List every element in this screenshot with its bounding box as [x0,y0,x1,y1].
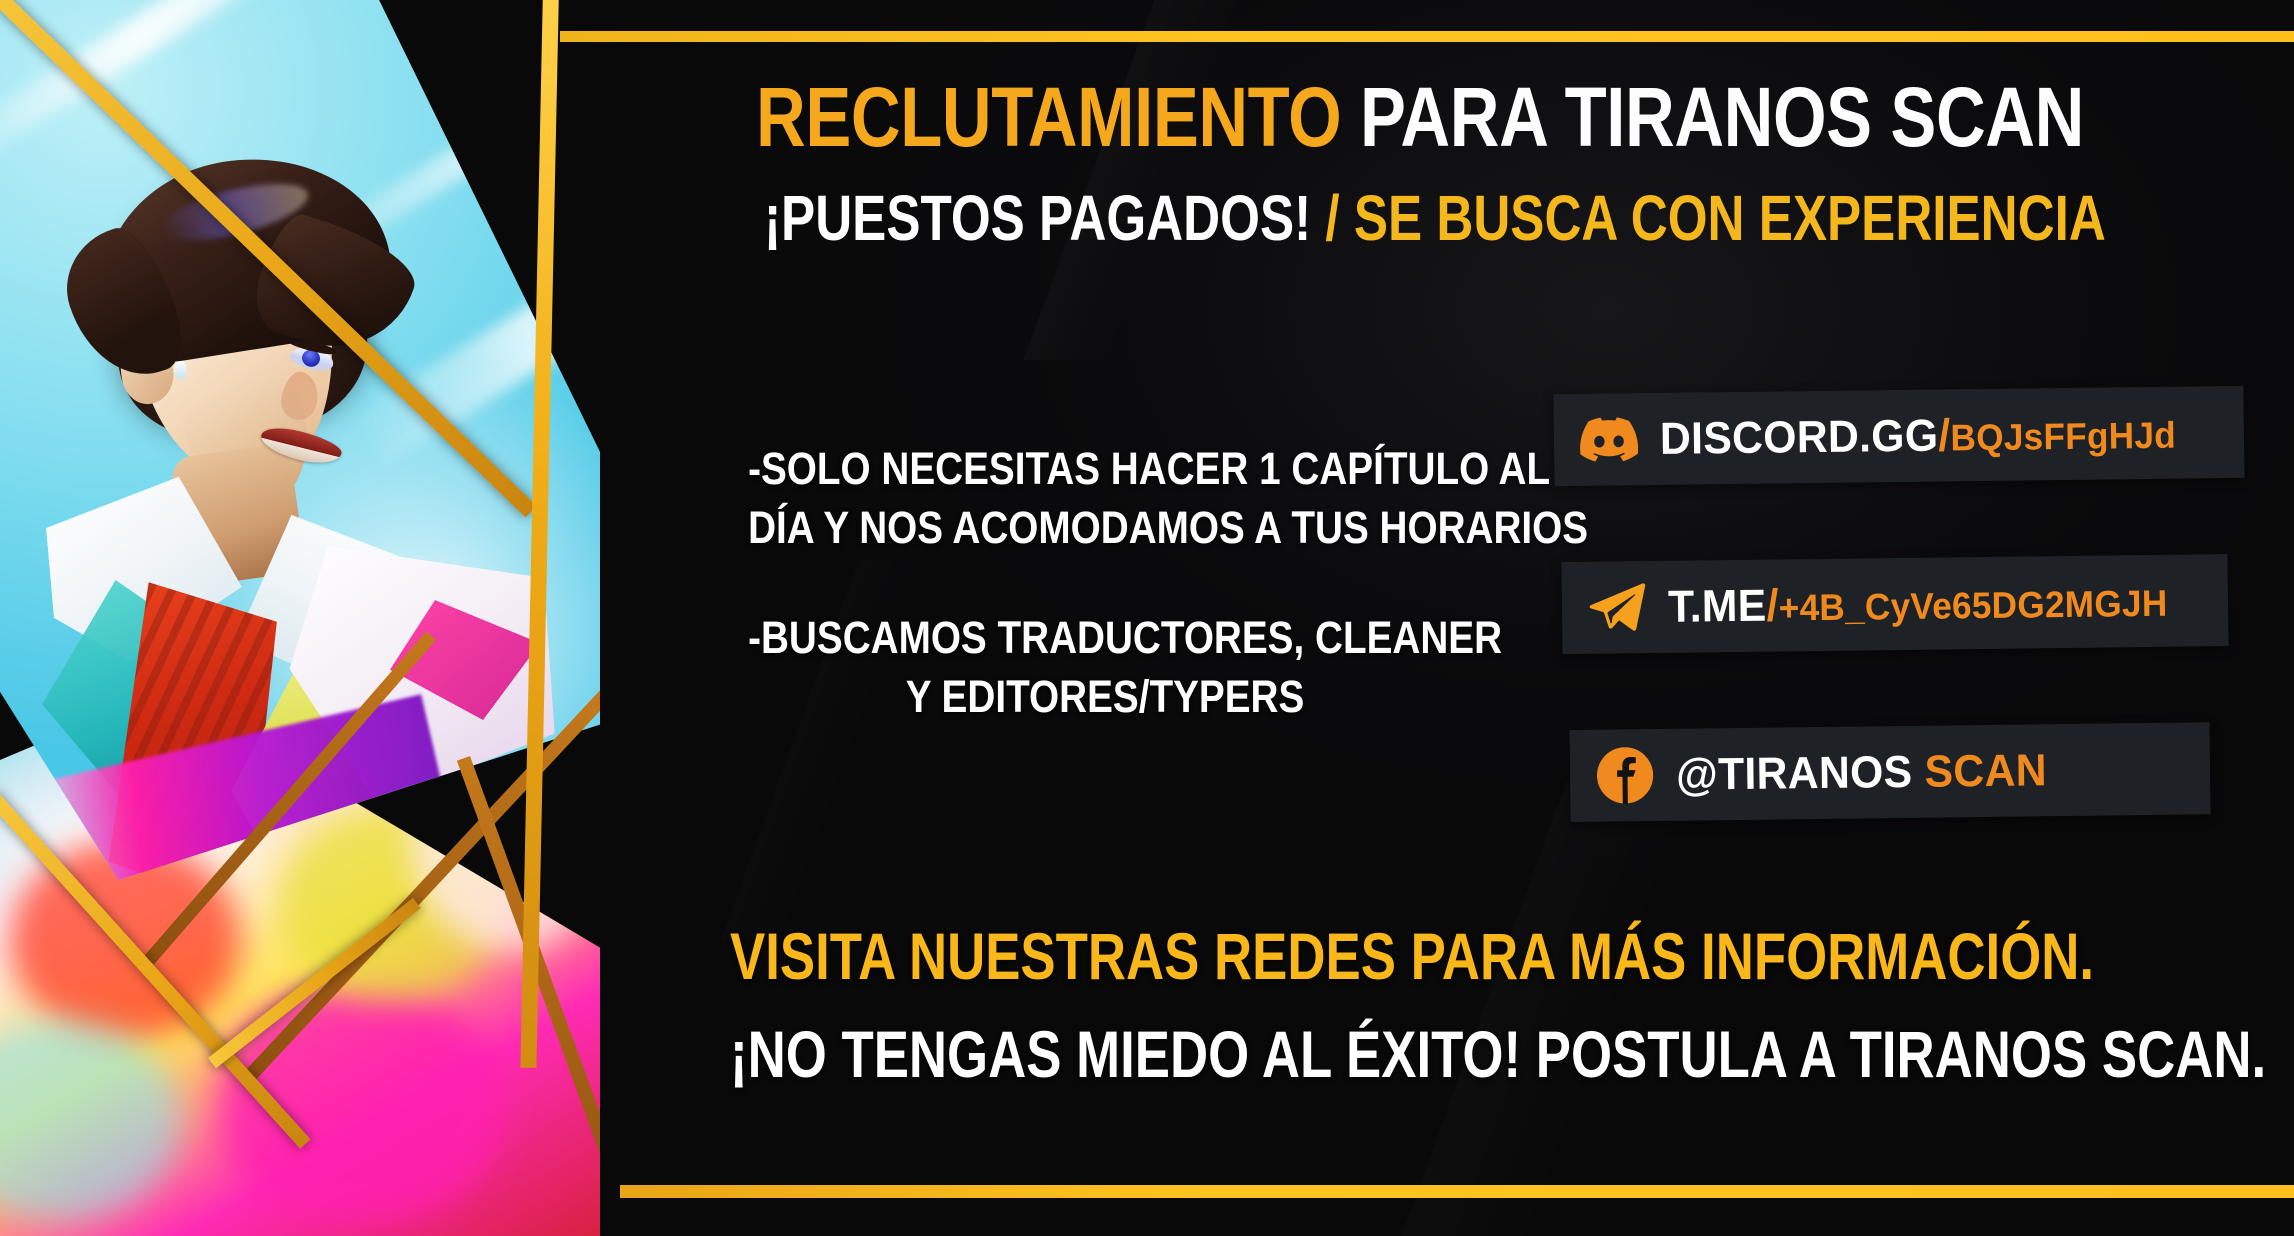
telegram-invite-code: +4B_CyVe65DG2MGJH [1778,583,2167,629]
facebook-handle-suffix: SCAN [1924,744,2047,796]
subtitle-experience: / SE BUSCA CON EXPERIENCIA [1325,182,2105,254]
facebook-link-card[interactable]: @TIRANOS SCAN [1570,722,2211,822]
discord-link-text: DISCORD.GG/BQJsFFgHJd [1660,407,2177,465]
recruitment-banner: RECLUTAMIENTO PARA TIRANOS SCAN ¡PUESTOS… [0,0,2294,1236]
gold-line-bottom [620,1185,2294,1198]
cta-apply-line: ¡NO TENGAS MIEDO AL ÉXITO! POSTULA A TIR… [730,1018,2090,1092]
artwork-main-panel [0,0,600,880]
bullet-line: -BUSCAMOS TRADUCTORES, CLEANER [748,609,1462,668]
cta-visit-line: VISITA NUESTRAS REDES PARA MÁS INFORMACI… [730,920,2090,994]
artwork-light-streak [0,0,353,180]
facebook-handle: @TIRANOS [1676,746,1913,800]
discord-invite-code: BQJsFFgHJd [1950,415,2176,459]
title-rest: PARA TIRANOS SCAN [1360,70,2084,164]
artwork-light-streak [353,214,600,466]
subtitle-paid: ¡PUESTOS PAGADOS! [764,182,1311,254]
telegram-separator: / [1766,579,1779,630]
gold-line-top [560,31,2294,42]
telegram-link-text: T.ME/+4B_CyVe65DG2MGJH [1668,575,2168,633]
requirements-list: -SOLO NECESITAS HACER 1 CAPÍTULO AL DÍA … [748,440,1462,726]
page-subtitle: ¡PUESTOS PAGADOS! / SE BUSCA CON EXPERIE… [764,186,2076,250]
character-artwork [0,0,600,1236]
social-links-group: DISCORD.GG/BQJsFFgHJd T.ME/+4B_CyVe65DG2… [1553,386,2248,822]
discord-link-card[interactable]: DISCORD.GG/BQJsFFgHJd [1553,386,2244,486]
discord-icon [1580,410,1639,469]
discord-separator: / [1938,409,1951,460]
call-to-action: VISITA NUESTRAS REDES PARA MÁS INFORMACI… [730,920,2090,1092]
bullet-line: -SOLO NECESITAS HACER 1 CAPÍTULO AL [748,440,1462,499]
page-title: RECLUTAMIENTO PARA TIRANOS SCAN [748,75,2093,159]
telegram-link-card[interactable]: T.ME/+4B_CyVe65DG2MGJH [1561,554,2228,654]
bullet-line: Y EDITORES/TYPERS [748,668,1462,727]
facebook-link-text: @TIRANOS SCAN [1676,744,2047,801]
character-sweat-drop [174,360,187,379]
title-highlight: RECLUTAMIENTO [756,70,1341,164]
telegram-icon [1588,578,1647,637]
telegram-domain: T.ME [1668,580,1767,632]
bullet-schedule: -SOLO NECESITAS HACER 1 CAPÍTULO AL DÍA … [748,440,1462,557]
facebook-icon [1596,746,1655,805]
artwork-blob [0,1020,180,1220]
bullet-roles: -BUSCAMOS TRADUCTORES, CLEANER Y EDITORE… [748,609,1462,726]
bullet-line: DÍA Y NOS ACOMODAMOS A TUS HORARIOS [748,499,1462,558]
discord-domain: DISCORD.GG [1660,410,1939,464]
